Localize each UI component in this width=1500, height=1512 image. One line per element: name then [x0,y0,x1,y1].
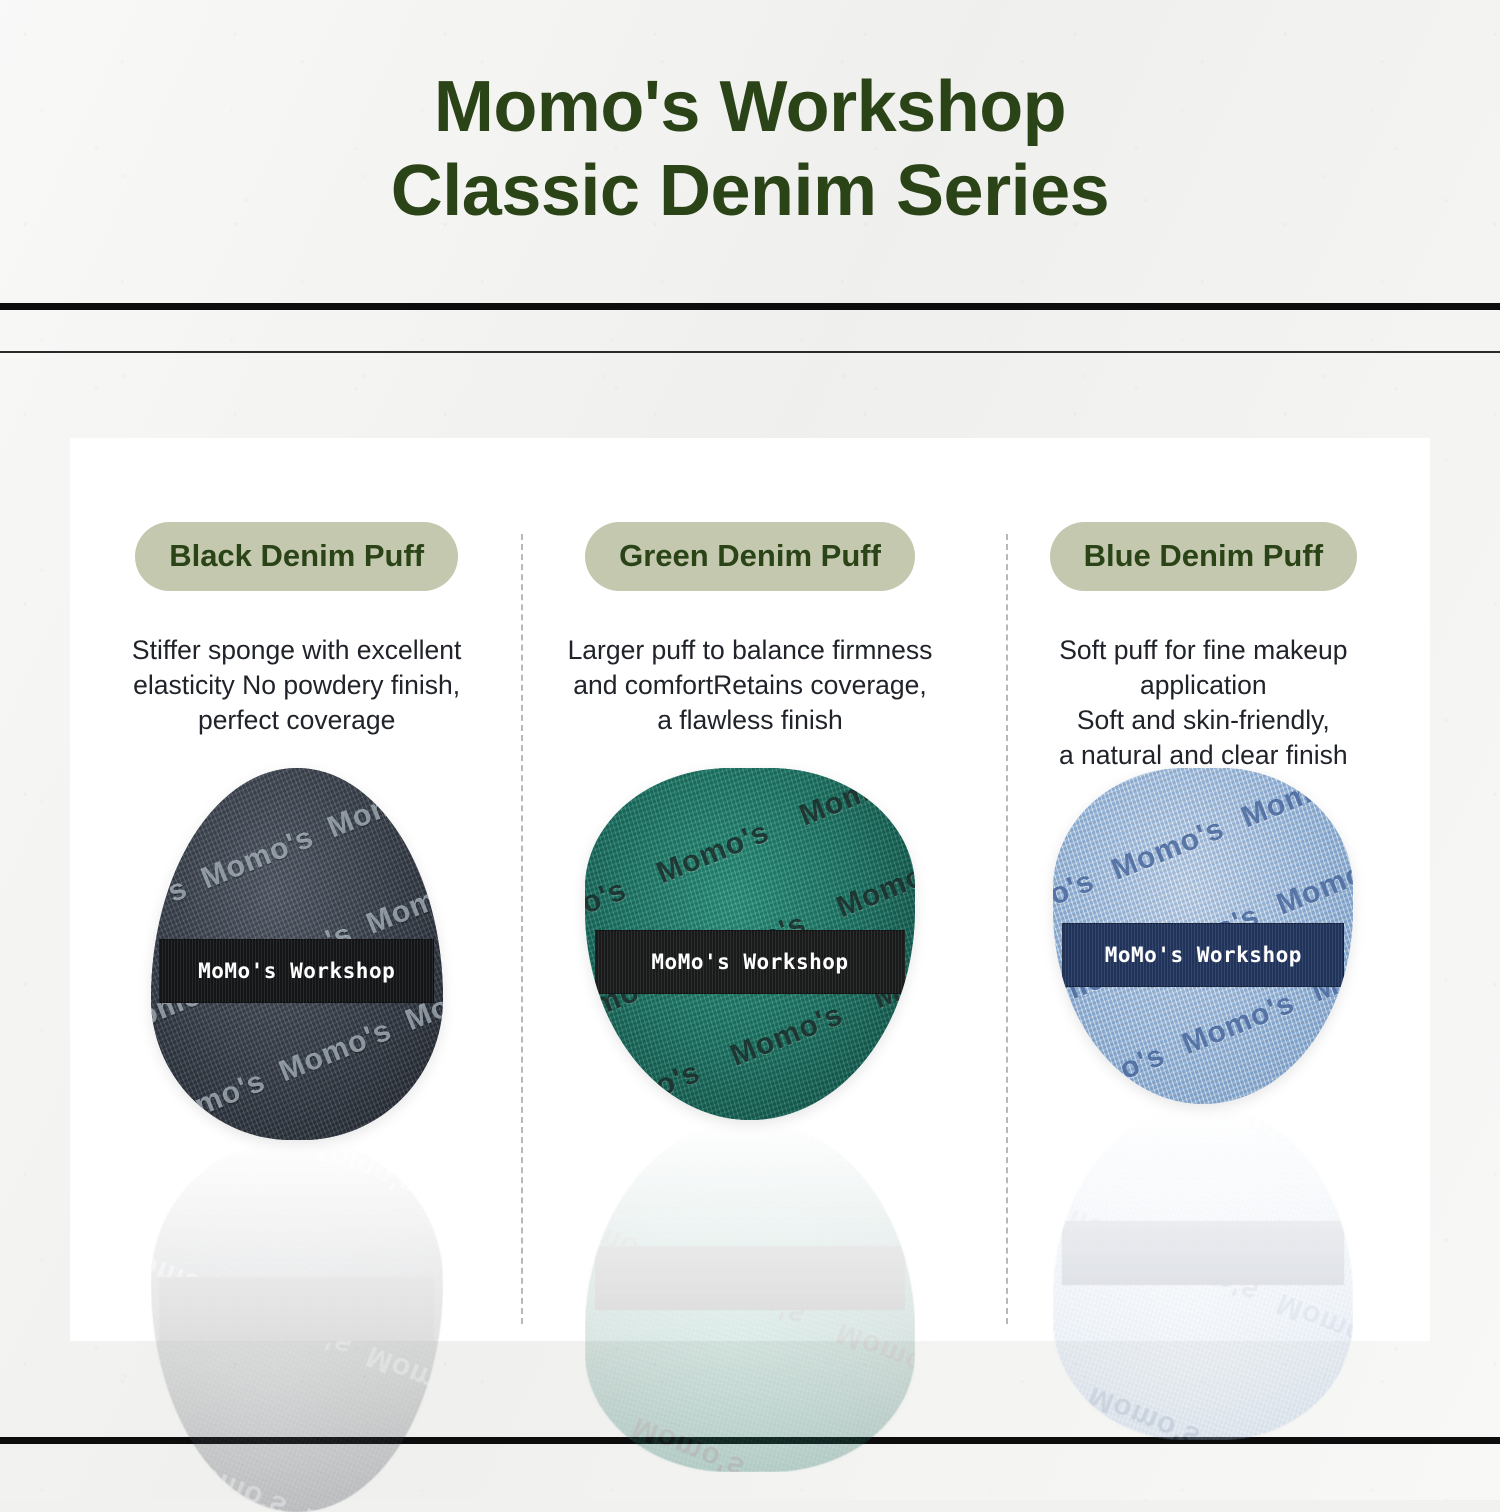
product-image-green-denim-puff: Momo's Momo's Momo's Momo's Momo's Momo'… [523,768,976,1328]
pattern-text: Momo's [585,1190,673,1287]
pattern-text: Momo's [1209,1421,1340,1440]
pattern-text: Momo's [166,1438,297,1512]
puff-strap-green: MoMo's Workshop [595,930,905,994]
product-column-green-denim-puff[interactable]: Green Denim Puff Larger puff to balance … [523,438,976,1341]
pattern-text: Momo's [151,1387,171,1484]
pattern-text: Momo's [319,768,443,855]
pattern-text: Momo's [436,1048,443,1140]
product-description-black: Stiffer sponge with excellent elasticity… [97,633,497,738]
pattern-text: Momo's [309,1099,440,1140]
strap-label: MoMo's Workshop [198,959,395,983]
page-title-line-2: Classic Denim Series [391,150,1109,234]
puff-wrap-green: Momo's Momo's Momo's Momo's Momo's Momo'… [585,768,915,1472]
product-columns: Black Denim Puff Stiffer sponge with exc… [70,438,1430,1341]
pattern-text: Momo's [901,1020,915,1117]
pattern-text: Momo's [1268,835,1354,932]
divider-rule-top [0,303,1500,310]
pattern-text: Momo's [1197,1104,1328,1175]
pattern-text: Momo's [1232,768,1353,845]
denim-weave-texture-reflection [1053,1104,1353,1440]
pattern-text: Momo's [585,1044,710,1120]
puff-wrap-blue: Momo's Momo's Momo's Momo's Momo's Momo'… [1053,768,1353,1440]
puff-body-black: Momo's Momo's Momo's Momo's Momo's Momo'… [151,768,443,1140]
strap-label: MoMo's Workshop [1105,943,1302,967]
product-column-black-denim-puff[interactable]: Black Denim Puff Stiffer sponge with exc… [70,438,523,1341]
product-title-badge-blue: Blue Denim Puff [1050,522,1357,591]
pattern-text: Momo's [1053,1171,1139,1268]
puff-body-green: Momo's Momo's Momo's Momo's Momo's Momo'… [585,768,915,1120]
pattern-text: Momo's [585,770,599,867]
pattern-wordmark-reflection: Momo's Momo's Momo's Momo's Momo's Momo'… [151,1140,443,1512]
pattern-text: Momo's [758,1078,889,1120]
pattern-text: Momo's [721,987,852,1084]
pattern-text: Momo's [296,1140,427,1214]
infographic-page: Momo's Workshop Classic Denim Series Bla… [0,0,1500,1500]
puff-reflection-black: Momo's Momo's Momo's Momo's Momo's Momo'… [151,1140,443,1512]
pattern-text: Momo's [1268,1276,1354,1373]
puff-body-reflection: Momo's Momo's Momo's Momo's Momo's Momo'… [585,1120,915,1472]
product-image-blue-denim-puff: Momo's Momo's Momo's Momo's Momo's Momo'… [977,768,1430,1328]
pattern-text: Momo's [1103,800,1234,897]
pattern-text: Momo's [1079,1369,1210,1440]
puff-strap-reflection [1062,1221,1344,1285]
pattern-text: Momo's [585,1342,611,1439]
pattern-text: Momo's [1173,975,1304,1072]
pattern-text: Momo's [889,1153,915,1250]
denim-weave-texture-reflection [151,1140,443,1512]
product-description-blue: Soft puff for fine makeup application So… [1003,633,1403,773]
product-column-blue-denim-puff[interactable]: Blue Denim Puff Soft puff for fine makeu… [977,438,1430,1341]
pattern-text: Momo's [790,768,915,843]
product-image-black-denim-puff: Momo's Momo's Momo's Momo's Momo's Momo'… [70,768,523,1328]
pattern-text: Momo's [170,1140,301,1163]
puff-wrap-black: Momo's Momo's Momo's Momo's Momo's Momo'… [151,768,443,1512]
divider-rule-top-secondary [0,351,1500,353]
pattern-text: Momo's [611,768,742,810]
product-title-badge-green: Green Denim Puff [585,522,915,591]
puff-body-reflection: Momo's Momo's Momo's Momo's Momo's Momo'… [151,1140,443,1512]
pattern-text: Momo's [685,1247,816,1344]
pattern-text: Momo's [766,1457,897,1472]
pattern-text: Momo's [1338,1009,1353,1104]
puff-body-reflection: Momo's Momo's Momo's Momo's Momo's Momo'… [1053,1104,1353,1440]
pattern-text: Momo's [358,1328,443,1425]
puff-reflection-blue: Momo's Momo's Momo's Momo's Momo's Momo'… [1053,1104,1353,1440]
product-title-badge-black: Black Denim Puff [135,522,458,591]
puff-strap-black: MoMo's Workshop [159,939,434,1003]
pattern-text: Momo's [1067,1104,1198,1123]
pattern-wordmark-reflection: Momo's Momo's Momo's Momo's Momo's Momo'… [1053,1104,1353,1440]
pattern-text: Momo's [648,804,779,901]
pattern-text: Momo's [1138,1223,1269,1320]
puff-reflection-green: Momo's Momo's Momo's Momo's Momo's Momo'… [585,1120,915,1472]
pattern-text: Momo's [1053,1316,1080,1413]
pattern-text: Momo's [153,768,284,809]
pattern-text: Momo's [293,1489,424,1512]
pattern-text: Momo's [1326,1131,1353,1228]
pattern-text: Momo's [827,838,915,935]
product-description-green: Larger puff to balance firmness and comf… [550,633,950,738]
product-comparison-card: Black Denim Puff Stiffer sponge with exc… [70,438,1430,1341]
strap-label: MoMo's Workshop [651,950,848,974]
pattern-text: Momo's [827,1305,915,1402]
puff-body-blue: Momo's Momo's Momo's Momo's Momo's Momo'… [1053,768,1353,1104]
pattern-text: Momo's [623,1400,754,1472]
pattern-text: Momo's [1053,1027,1174,1104]
pattern-text: Momo's [270,1002,401,1099]
denim-weave-texture-reflection [585,1120,915,1472]
page-header: Momo's Workshop Classic Denim Series [0,0,1500,300]
pattern-text: Momo's [192,809,323,906]
pattern-text: Momo's [746,1120,877,1192]
pattern-text: Momo's [423,1168,443,1265]
page-title-line-1: Momo's Workshop [434,66,1066,150]
pattern-text: Momo's [151,1053,275,1140]
pattern-wordmark-reflection: Momo's Momo's Momo's Momo's Momo's Momo'… [585,1120,915,1472]
pattern-text: Momo's [231,1277,362,1374]
pattern-text: Momo's [358,854,443,951]
puff-strap-reflection [595,1246,905,1310]
puff-strap-reflection [159,1277,434,1341]
pattern-text: Momo's [603,1120,734,1135]
pattern-text: Momo's [151,1226,236,1323]
pattern-text: Momo's [1067,768,1198,810]
puff-strap-blue: MoMo's Workshop [1062,923,1344,987]
pattern-text: Momo's [1208,1062,1339,1104]
pattern-text: Momo's [1053,768,1068,863]
pattern-text: Momo's [151,768,158,860]
